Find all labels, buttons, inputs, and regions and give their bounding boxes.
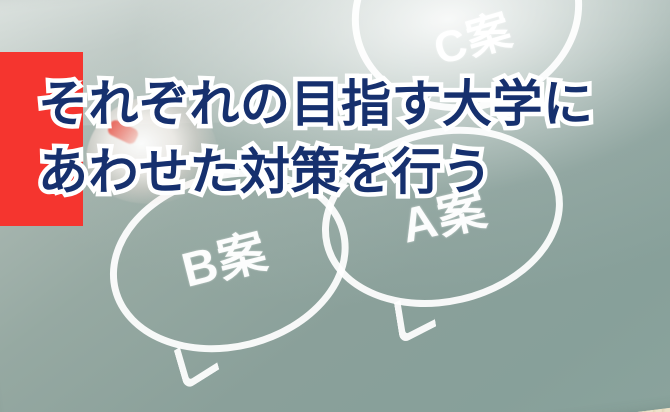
headline: それぞれの目指す大学に あわせた対策を行う	[38, 70, 658, 206]
speech-bubble-a-tail	[394, 285, 436, 345]
headline-line-2: あわせた対策を行う	[38, 138, 658, 206]
speech-bubble-b-label: B案	[173, 212, 274, 301]
chalkboard: C案 B案 A案	[0, 0, 670, 412]
headline-line-1: それぞれの目指す大学に	[38, 70, 658, 138]
chalkboard-surface: C案 B案 A案	[0, 0, 670, 412]
speech-bubble-b-tail	[174, 329, 219, 390]
speech-bubble-c-label: C案	[425, 0, 519, 77]
promotional-banner: C案 B案 A案 それぞれの目指す大学に あわせた対策を行う	[0, 0, 670, 412]
